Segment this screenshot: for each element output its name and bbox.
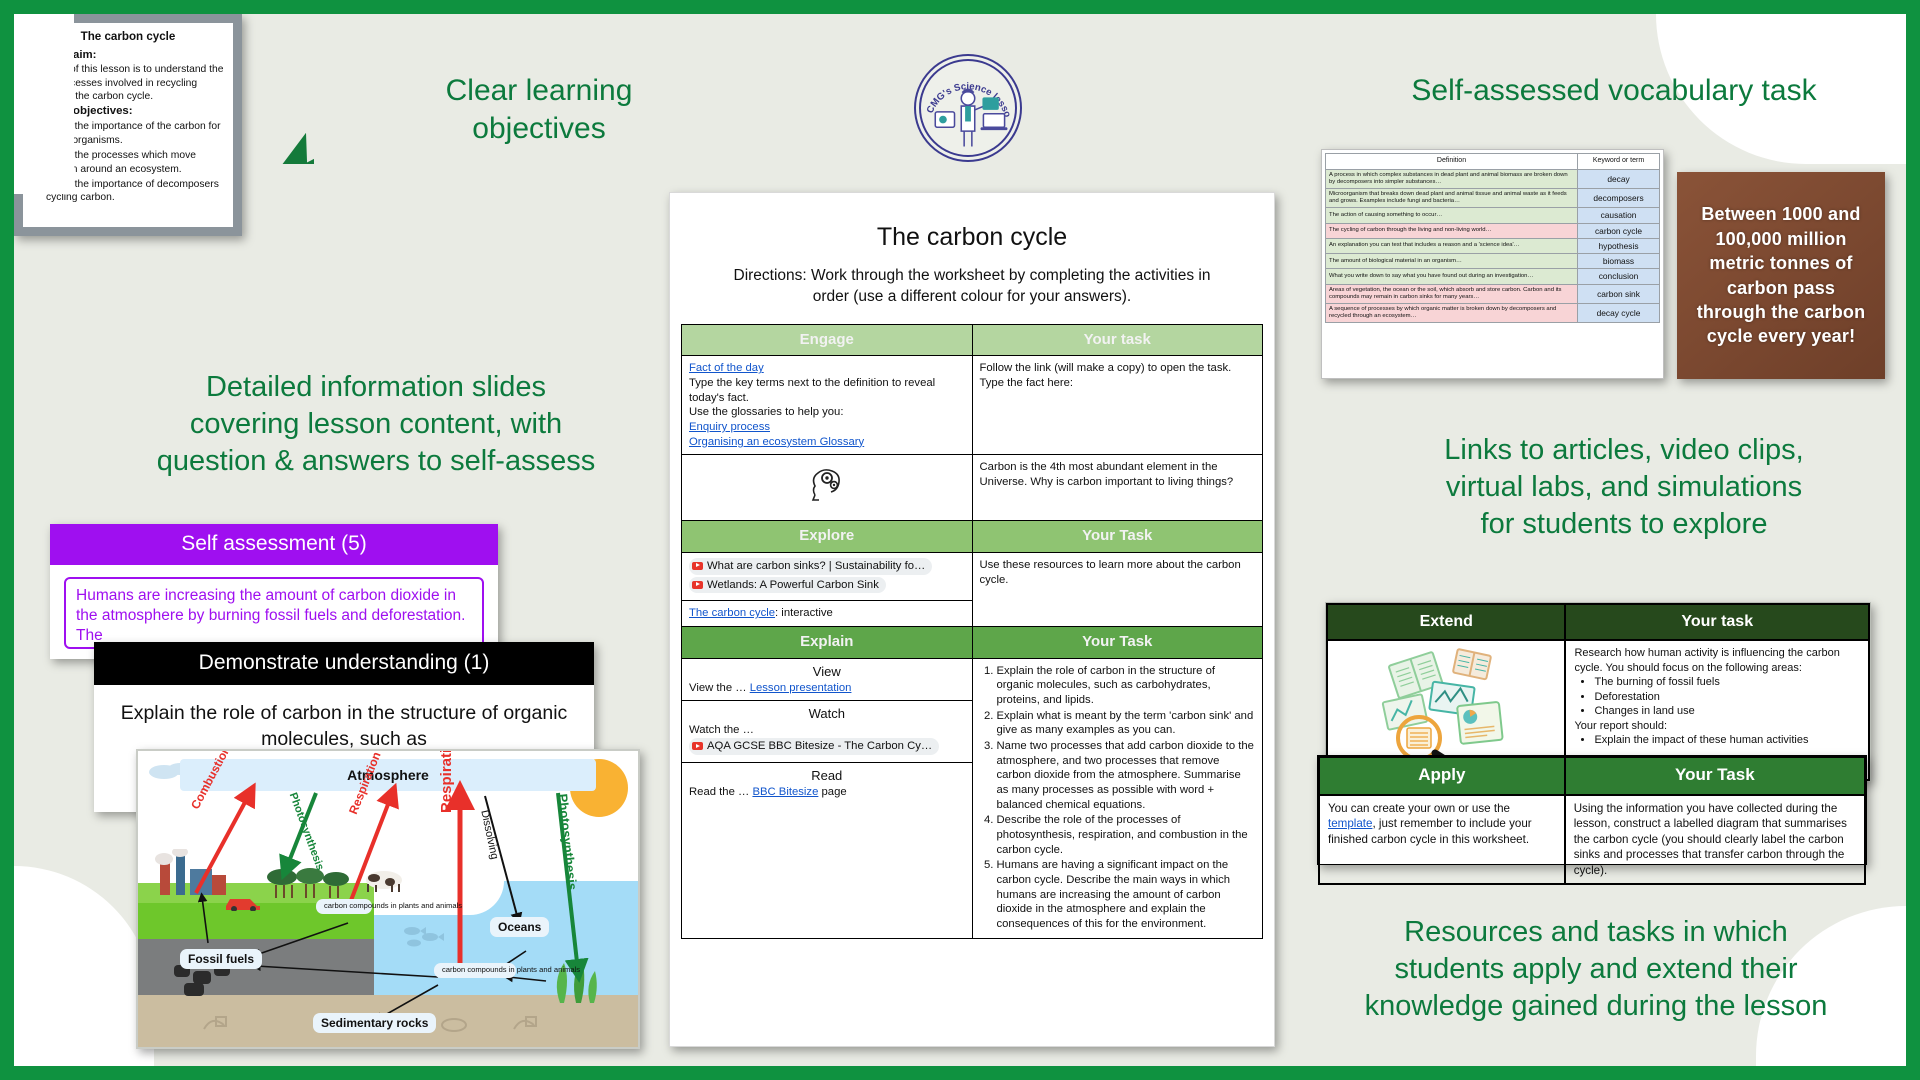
vocab-definition: What you write down to say what you have… [1326, 269, 1578, 284]
vocab-definition: The amount of biological material in an … [1326, 254, 1578, 269]
youtube-icon [692, 562, 703, 570]
section-header-explain: Explain [682, 627, 973, 659]
table-row: Carbon is the 4th most abundant element … [682, 455, 1263, 521]
demonstrate-body: Explain the role of carbon in the struct… [94, 685, 594, 752]
link-carbon-cycle-interactive[interactable]: The carbon cycle [689, 607, 775, 619]
read-label: Read [689, 768, 965, 785]
apply-left-cell: You can create your own or use the templ… [1319, 795, 1565, 885]
apply-table: Apply Your Task You can create your own … [1317, 755, 1867, 865]
apply-header: Apply [1319, 757, 1565, 795]
youtube-icon [692, 742, 703, 750]
worksheet-document: The carbon cycle Directions: Work throug… [669, 192, 1275, 1047]
link-lesson-presentation[interactable]: Lesson presentation [750, 682, 852, 694]
section-header-engage: Engage [682, 324, 973, 356]
annotation-info-slides: Detailed information slides covering les… [76, 369, 676, 480]
table-row: A sequence of processes by which organic… [1326, 304, 1660, 323]
explain-read-cell: Read Read the … BBC Bitesize page [682, 762, 973, 938]
vocab-table: Definition Keyword or term A process in … [1325, 153, 1660, 323]
extend-report-bullets: Explain the impact of these human activi… [1594, 733, 1860, 748]
section-header-explore-task: Your Task [972, 521, 1263, 553]
demonstrate-header: Demonstrate understanding (1) [94, 642, 594, 685]
table-row: View View the … Lesson presentation Expl… [682, 658, 1263, 701]
vocab-keyword[interactable]: carbon cycle [1578, 223, 1660, 238]
engage-row2-right: Carbon is the 4th most abundant element … [972, 455, 1263, 521]
section-header-explain-task: Your Task [972, 627, 1263, 659]
vocab-keyword[interactable]: decay [1578, 169, 1660, 188]
extend-header: Extend [1327, 604, 1565, 640]
table-row: You can create your own or use the templ… [1319, 795, 1865, 885]
vocab-definition: An explanation you can test that include… [1326, 238, 1578, 253]
table-row: Explore Your Task [682, 521, 1263, 553]
read-prefix: Read the … [689, 786, 752, 798]
explain-tasks-cell: Explain the role of carbon in the struct… [972, 658, 1263, 938]
section-header-engage-task: Your task [972, 324, 1263, 356]
link-template[interactable]: template [1328, 817, 1372, 830]
table-row: Microorganism that breaks down dead plan… [1326, 188, 1660, 207]
task-item: Describe the role of the processes of ph… [997, 813, 1256, 857]
vocab-definition: The cycling of carbon through the living… [1326, 223, 1578, 238]
explore-interactive-cell: The carbon cycle: interactive [682, 601, 973, 627]
vocab-keyword[interactable]: conclusion [1578, 269, 1660, 284]
task-item: Explain the role of carbon in the struct… [997, 664, 1256, 708]
vocab-definition: Areas of vegetation, the ocean or the so… [1326, 284, 1578, 303]
table-row: What you write down to say what you have… [1326, 269, 1660, 284]
vocab-keyword[interactable]: biomass [1578, 254, 1660, 269]
table-row: Explain Your Task [682, 627, 1263, 659]
vocab-keyword[interactable]: carbon sink [1578, 284, 1660, 303]
task-item: Humans are having a significant impact o… [997, 858, 1256, 931]
engage-row1-text: Type the key terms next to the definitio… [689, 376, 965, 420]
logo-illustration-icon: CMG's Science lessons [916, 56, 1020, 160]
bullet-item: Explain the impact of these human activi… [1594, 733, 1860, 748]
vocab-header-keyword: Keyword or term [1578, 154, 1660, 170]
view-label: View [689, 664, 965, 681]
view-prefix: View the … [689, 682, 750, 694]
label-oceans: Oceans [490, 917, 549, 937]
vocab-definition: A sequence of processes by which organic… [1326, 304, 1578, 323]
arrow-label-respiration-sea: Respiration [438, 751, 455, 813]
annotation-learning-objectives: Clear learning objectives [374, 72, 704, 149]
link-bbc-bitesize[interactable]: BBC Bitesize [752, 786, 818, 798]
table-row: An explanation you can test that include… [1326, 238, 1660, 253]
explore-videos-cell: What are carbon sinks? | Sustainability … [682, 552, 973, 600]
section-header-explore: Explore [682, 521, 973, 553]
label-sedimentary-rocks: Sedimentary rocks [313, 1013, 436, 1033]
task-item: Explain what is meant by the term 'carbo… [997, 709, 1256, 738]
worksheet-table: Engage Your task Fact of the day Type th… [681, 324, 1263, 939]
table-row: The cycling of carbon through the living… [1326, 223, 1660, 238]
table-row: A process in which complex substances in… [1326, 169, 1660, 188]
carbon-cycle-illustration: Atmosphere [138, 751, 638, 1047]
self-assessment-body: Humans are increasing the amount of carb… [64, 577, 484, 649]
bullet-item: Deforestation [1594, 690, 1860, 705]
decorative-corner-top-left [14, 14, 74, 194]
vocab-keyword[interactable]: causation [1578, 208, 1660, 223]
arrow-to-aim-slide [304, 114, 314, 164]
link-fact-of-the-day[interactable]: Fact of the day [689, 362, 764, 374]
explain-view-cell: View View the … Lesson presentation [682, 658, 973, 701]
table-row: Apply Your Task [1319, 757, 1865, 795]
video-title: AQA GCSE BBC Bitesize - The Carbon Cy… [707, 740, 932, 752]
link-ecosystem-glossary[interactable]: Organising an ecosystem Glossary [689, 435, 965, 450]
apply-right-cell: Using the information you have collected… [1565, 795, 1865, 885]
engage-row2-left [682, 455, 973, 521]
youtube-icon [692, 581, 703, 589]
brain-gears-icon [807, 463, 847, 503]
worksheet-directions: Directions: Work through the worksheet b… [670, 266, 1274, 324]
annotation-links: Links to articles, video clips, virtual … [1369, 432, 1879, 543]
vocab-definition: The action of causing something to occur… [1326, 208, 1578, 223]
task-item: Name two processes that add carbon dioxi… [997, 739, 1256, 812]
label-fossil-fuels: Fossil fuels [180, 949, 262, 969]
explore-right: Use these resources to learn more about … [972, 552, 1263, 626]
label-plants-land: carbon compounds in plants and animals [316, 899, 372, 914]
video-link[interactable]: Wetlands: A Powerful Carbon Sink [689, 577, 886, 594]
vocabulary-self-assessment-table: Definition Keyword or term A process in … [1321, 149, 1664, 379]
table-row: Definition Keyword or term [1326, 154, 1660, 170]
link-enquiry-process[interactable]: Enquiry process [689, 420, 965, 435]
apply-table-grid: Apply Your Task You can create your own … [1318, 756, 1866, 885]
vocab-definition: Microorganism that breaks down dead plan… [1326, 188, 1578, 207]
carbon-cycle-diagram-slide: Atmosphere [136, 749, 640, 1049]
table-row: Engage Your task [682, 324, 1263, 356]
video-title: Wetlands: A Powerful Carbon Sink [707, 579, 879, 591]
table-row: Areas of vegetation, the ocean or the so… [1326, 284, 1660, 303]
research-books-magnifier-icon [1371, 646, 1521, 764]
watch-prefix: Watch the … [689, 723, 965, 738]
self-assessment-slide: Self assessment (5) Humans are increasin… [50, 524, 498, 659]
apply-task-header: Your Task [1565, 757, 1865, 795]
bullet-item: The burning of fossil fuels [1594, 675, 1860, 690]
extend-intro: Research how human activity is influenci… [1574, 646, 1860, 675]
bullet-item: Changes in land use [1594, 704, 1860, 719]
table-row: Extend Your task [1327, 604, 1869, 640]
self-assessment-header: Self assessment (5) [50, 524, 498, 565]
apply-prefix: You can create your own or use the [1328, 802, 1510, 815]
vocab-keyword[interactable]: hypothesis [1578, 238, 1660, 253]
explain-task-list: Explain the role of carbon in the struct… [997, 664, 1256, 932]
vocab-keyword[interactable]: decay cycle [1578, 304, 1660, 323]
table-row: What are carbon sinks? | Sustainability … [682, 552, 1263, 600]
vocab-keyword[interactable]: decomposers [1578, 188, 1660, 207]
poster-canvas: The carbon cycle Lesson aim: The aim of … [0, 0, 1920, 1080]
explain-watch-cell: Watch Watch the … AQA GCSE BBC Bitesize … [682, 701, 973, 763]
video-link[interactable]: AQA GCSE BBC Bitesize - The Carbon Cy… [689, 738, 939, 755]
fact-box: Between 1000 and 100,000 million metric … [1677, 172, 1885, 379]
label-plants-sea: carbon compounds in plants and animals [434, 963, 516, 978]
table-row: The amount of biological material in an … [1326, 254, 1660, 269]
annotation-resources: Resources and tasks in which students ap… [1286, 914, 1906, 1025]
extend-report-heading: Your report should: [1574, 719, 1860, 734]
read-suffix: page [818, 786, 846, 798]
video-link[interactable]: What are carbon sinks? | Sustainability … [689, 558, 932, 575]
engage-row1-left: Fact of the day Type the key terms next … [682, 356, 973, 455]
vocab-header-definition: Definition [1326, 154, 1578, 170]
worksheet-title: The carbon cycle [670, 193, 1274, 266]
extend-bullets: The burning of fossil fuels Deforestatio… [1594, 675, 1860, 719]
watch-label: Watch [689, 706, 965, 723]
annotation-vocab-task: Self-assessed vocabulary task [1334, 72, 1894, 110]
engage-row1-right: Follow the link (will make a copy) to op… [972, 356, 1263, 455]
vocab-definition: A process in which complex substances in… [1326, 169, 1578, 188]
brand-logo: CMG's Science lessons [914, 54, 1022, 162]
table-row: The action of causing something to occur… [1326, 208, 1660, 223]
decorative-corner-bottom-left [14, 866, 154, 1066]
table-row: Fact of the day Type the key terms next … [682, 356, 1263, 455]
video-title: What are carbon sinks? | Sustainability … [707, 560, 925, 572]
extend-task-header: Your task [1565, 604, 1869, 640]
interactive-suffix: : interactive [775, 607, 833, 619]
